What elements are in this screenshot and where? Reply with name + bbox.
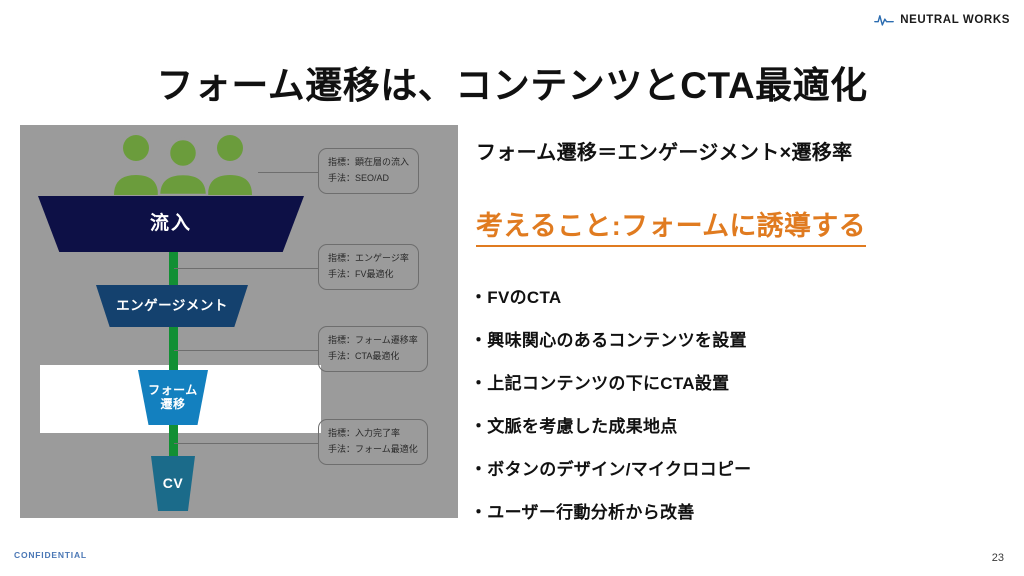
callout-form-transition: 指標：フォーム遷移率 手法：CTA最適化 — [318, 326, 428, 372]
callout-cv-metric: 指標：入力完了率 — [328, 426, 418, 442]
leader-line-4 — [174, 443, 318, 444]
headline-text: 考えること:フォームに誘導する — [476, 204, 866, 247]
page-title: フォーム遷移は、コンテンツとCTA最適化 — [0, 55, 1024, 109]
callout-cv: 指標：入力完了率 手法：フォーム最適化 — [318, 419, 428, 465]
funnel-stage-engagement[interactable]: エンゲージメント — [96, 285, 248, 327]
funnel-stage-inflow[interactable]: 流入 — [38, 196, 304, 252]
leader-line-2 — [174, 268, 318, 269]
list-item: ・ボタンのデザイン/マイクロコピー — [470, 455, 990, 480]
bullet-list: ・FVのCTA ・興味関心のあるコンテンツを設置 ・上記コンテンツの下にCTA設… — [470, 283, 990, 541]
three-people-icon — [108, 133, 258, 195]
connector-engage-to-form — [169, 326, 178, 372]
funnel-stage-engagement-label: エンゲージメント — [116, 298, 228, 314]
funnel-stage-cv-label: CV — [163, 475, 183, 491]
leader-line-1 — [258, 172, 318, 173]
confidential-label: CONFIDENTIAL — [14, 550, 87, 560]
funnel-diagram-panel: 流入 エンゲージメント フォーム 遷移 CV 指標：顕在層の流入 手法：SEO/… — [20, 125, 458, 518]
connector-form-to-cv — [169, 424, 178, 458]
funnel-stage-form-label-line2: 遷移 — [160, 397, 185, 411]
callout-form-metric: 指標：フォーム遷移率 — [328, 333, 418, 349]
list-item: ・文脈を考慮した成果地点 — [470, 412, 990, 437]
callout-engagement-method: 手法：FV最適化 — [328, 267, 409, 283]
leader-line-3 — [174, 350, 318, 351]
list-item: ・興味関心のあるコンテンツを設置 — [470, 326, 990, 351]
callout-engagement-metric: 指標：エンゲージ率 — [328, 251, 409, 267]
funnel-stage-form-label-line1: フォーム — [148, 383, 198, 397]
callout-inflow-method: 手法：SEO/AD — [328, 171, 409, 187]
list-item: ・上記コンテンツの下にCTA設置 — [470, 369, 990, 394]
page-number: 23 — [992, 552, 1004, 564]
funnel-stage-inflow-label: 流入 — [150, 213, 192, 235]
callout-engagement: 指標：エンゲージ率 手法：FV最適化 — [318, 244, 419, 290]
funnel-stage-form-transition[interactable]: フォーム 遷移 — [138, 370, 208, 425]
funnel-stage-cv[interactable]: CV — [151, 456, 195, 511]
formula-text: フォーム遷移＝エンゲージメント×遷移率 — [476, 136, 852, 165]
callout-cv-method: 手法：フォーム最適化 — [328, 442, 418, 458]
brand-logo: NEUTRAL WORKS — [874, 12, 1010, 28]
list-item: ・ユーザー行動分析から改善 — [470, 498, 990, 523]
list-item: ・FVのCTA — [470, 283, 990, 308]
brand-name: NEUTRAL WORKS — [900, 14, 1010, 26]
callout-form-method: 手法：CTA最適化 — [328, 349, 418, 365]
callout-inflow-metric: 指標：顕在層の流入 — [328, 155, 409, 171]
callout-inflow: 指標：顕在層の流入 手法：SEO/AD — [318, 148, 419, 194]
waveform-pulse-icon — [874, 12, 894, 28]
